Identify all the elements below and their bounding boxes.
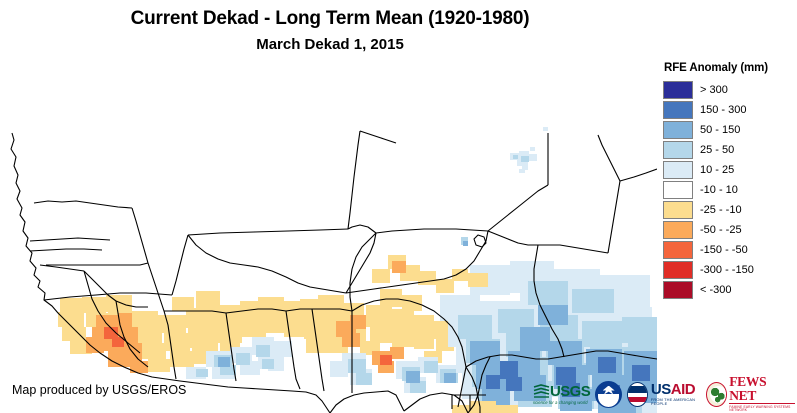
usaid-wordmark-aid: AID (671, 381, 695, 398)
globe-icon (706, 382, 727, 407)
page-subtitle: March Dekad 1, 2015 (0, 36, 660, 53)
legend-row: 10 - 25 (659, 160, 797, 179)
legend-row: 25 - 50 (659, 140, 797, 159)
legend-row: -25 - -10 (659, 200, 797, 219)
usgs-wave-icon (533, 384, 550, 398)
legend-swatch (663, 161, 693, 179)
legend-label: -50 - -25 (700, 224, 742, 236)
logo-bar: USGS science for a changing world USAID … (533, 379, 795, 409)
noaa-logo[interactable] (595, 380, 622, 408)
legend-swatch (663, 221, 693, 239)
map-credit: Map produced by USGS/EROS (12, 383, 186, 397)
title-block: Current Dekad - Long Term Mean (1920-198… (0, 0, 660, 53)
legend-label: -300 - -150 (700, 264, 754, 276)
legend-swatch (663, 101, 693, 119)
legend-label: > 300 (700, 84, 728, 96)
legend-row: > 300 (659, 80, 797, 99)
usgs-logo[interactable]: USGS science for a changing world (533, 380, 590, 408)
usaid-seal-icon (627, 382, 648, 407)
legend-swatch (663, 201, 693, 219)
noaa-bird-icon (603, 386, 615, 395)
usaid-wordmark-us: US (651, 381, 671, 398)
legend-swatch (663, 281, 693, 299)
fews-net-logo[interactable]: FEWS NET FAMINE EARLY WARNING SYSTEMS NE… (706, 380, 795, 408)
legend-swatch (663, 241, 693, 259)
legend-rows: > 300150 - 30050 - 15025 - 5010 - 25-10 … (659, 80, 797, 299)
legend-row: -150 - -50 (659, 240, 797, 259)
legend-label: 150 - 300 (700, 104, 746, 116)
legend-swatch (663, 181, 693, 199)
legend-row: 50 - 150 (659, 120, 797, 139)
usgs-tagline: science for a changing world (533, 400, 588, 405)
legend-row: 150 - 300 (659, 100, 797, 119)
legend-label: -25 - -10 (700, 204, 742, 216)
fews-net-tagline: FAMINE EARLY WARNING SYSTEMS NETWORK (729, 406, 795, 413)
legend-row: < -300 (659, 280, 797, 299)
legend-swatch (663, 261, 693, 279)
legend-title: RFE Anomaly (mm) (664, 62, 797, 74)
legend-label: -150 - -50 (700, 244, 748, 256)
legend-label: 10 - 25 (700, 164, 734, 176)
legend-panel: RFE Anomaly (mm) > 300150 - 30050 - 1502… (659, 62, 797, 300)
map-panel[interactable] (0, 65, 657, 413)
legend-row: -10 - 10 (659, 180, 797, 199)
usgs-wordmark: USGS (550, 384, 590, 399)
usaid-tagline: FROM THE AMERICAN PEOPLE (651, 398, 702, 406)
fews-net-wordmark: FEWS NET (729, 375, 795, 404)
legend-label: -10 - 10 (700, 184, 738, 196)
page-title: Current Dekad - Long Term Mean (1920-198… (0, 8, 660, 30)
legend-row: -50 - -25 (659, 220, 797, 239)
legend-row: -300 - -150 (659, 260, 797, 279)
legend-label: 25 - 50 (700, 144, 734, 156)
rfe-anomaly-heatmap[interactable] (0, 65, 657, 413)
usaid-logo[interactable]: USAID FROM THE AMERICAN PEOPLE (627, 380, 701, 408)
legend-swatch (663, 121, 693, 139)
legend-label: 50 - 150 (700, 124, 740, 136)
noaa-seal-icon (595, 381, 622, 408)
legend-swatch (663, 141, 693, 159)
legend-swatch (663, 81, 693, 99)
legend-label: < -300 (700, 284, 732, 296)
